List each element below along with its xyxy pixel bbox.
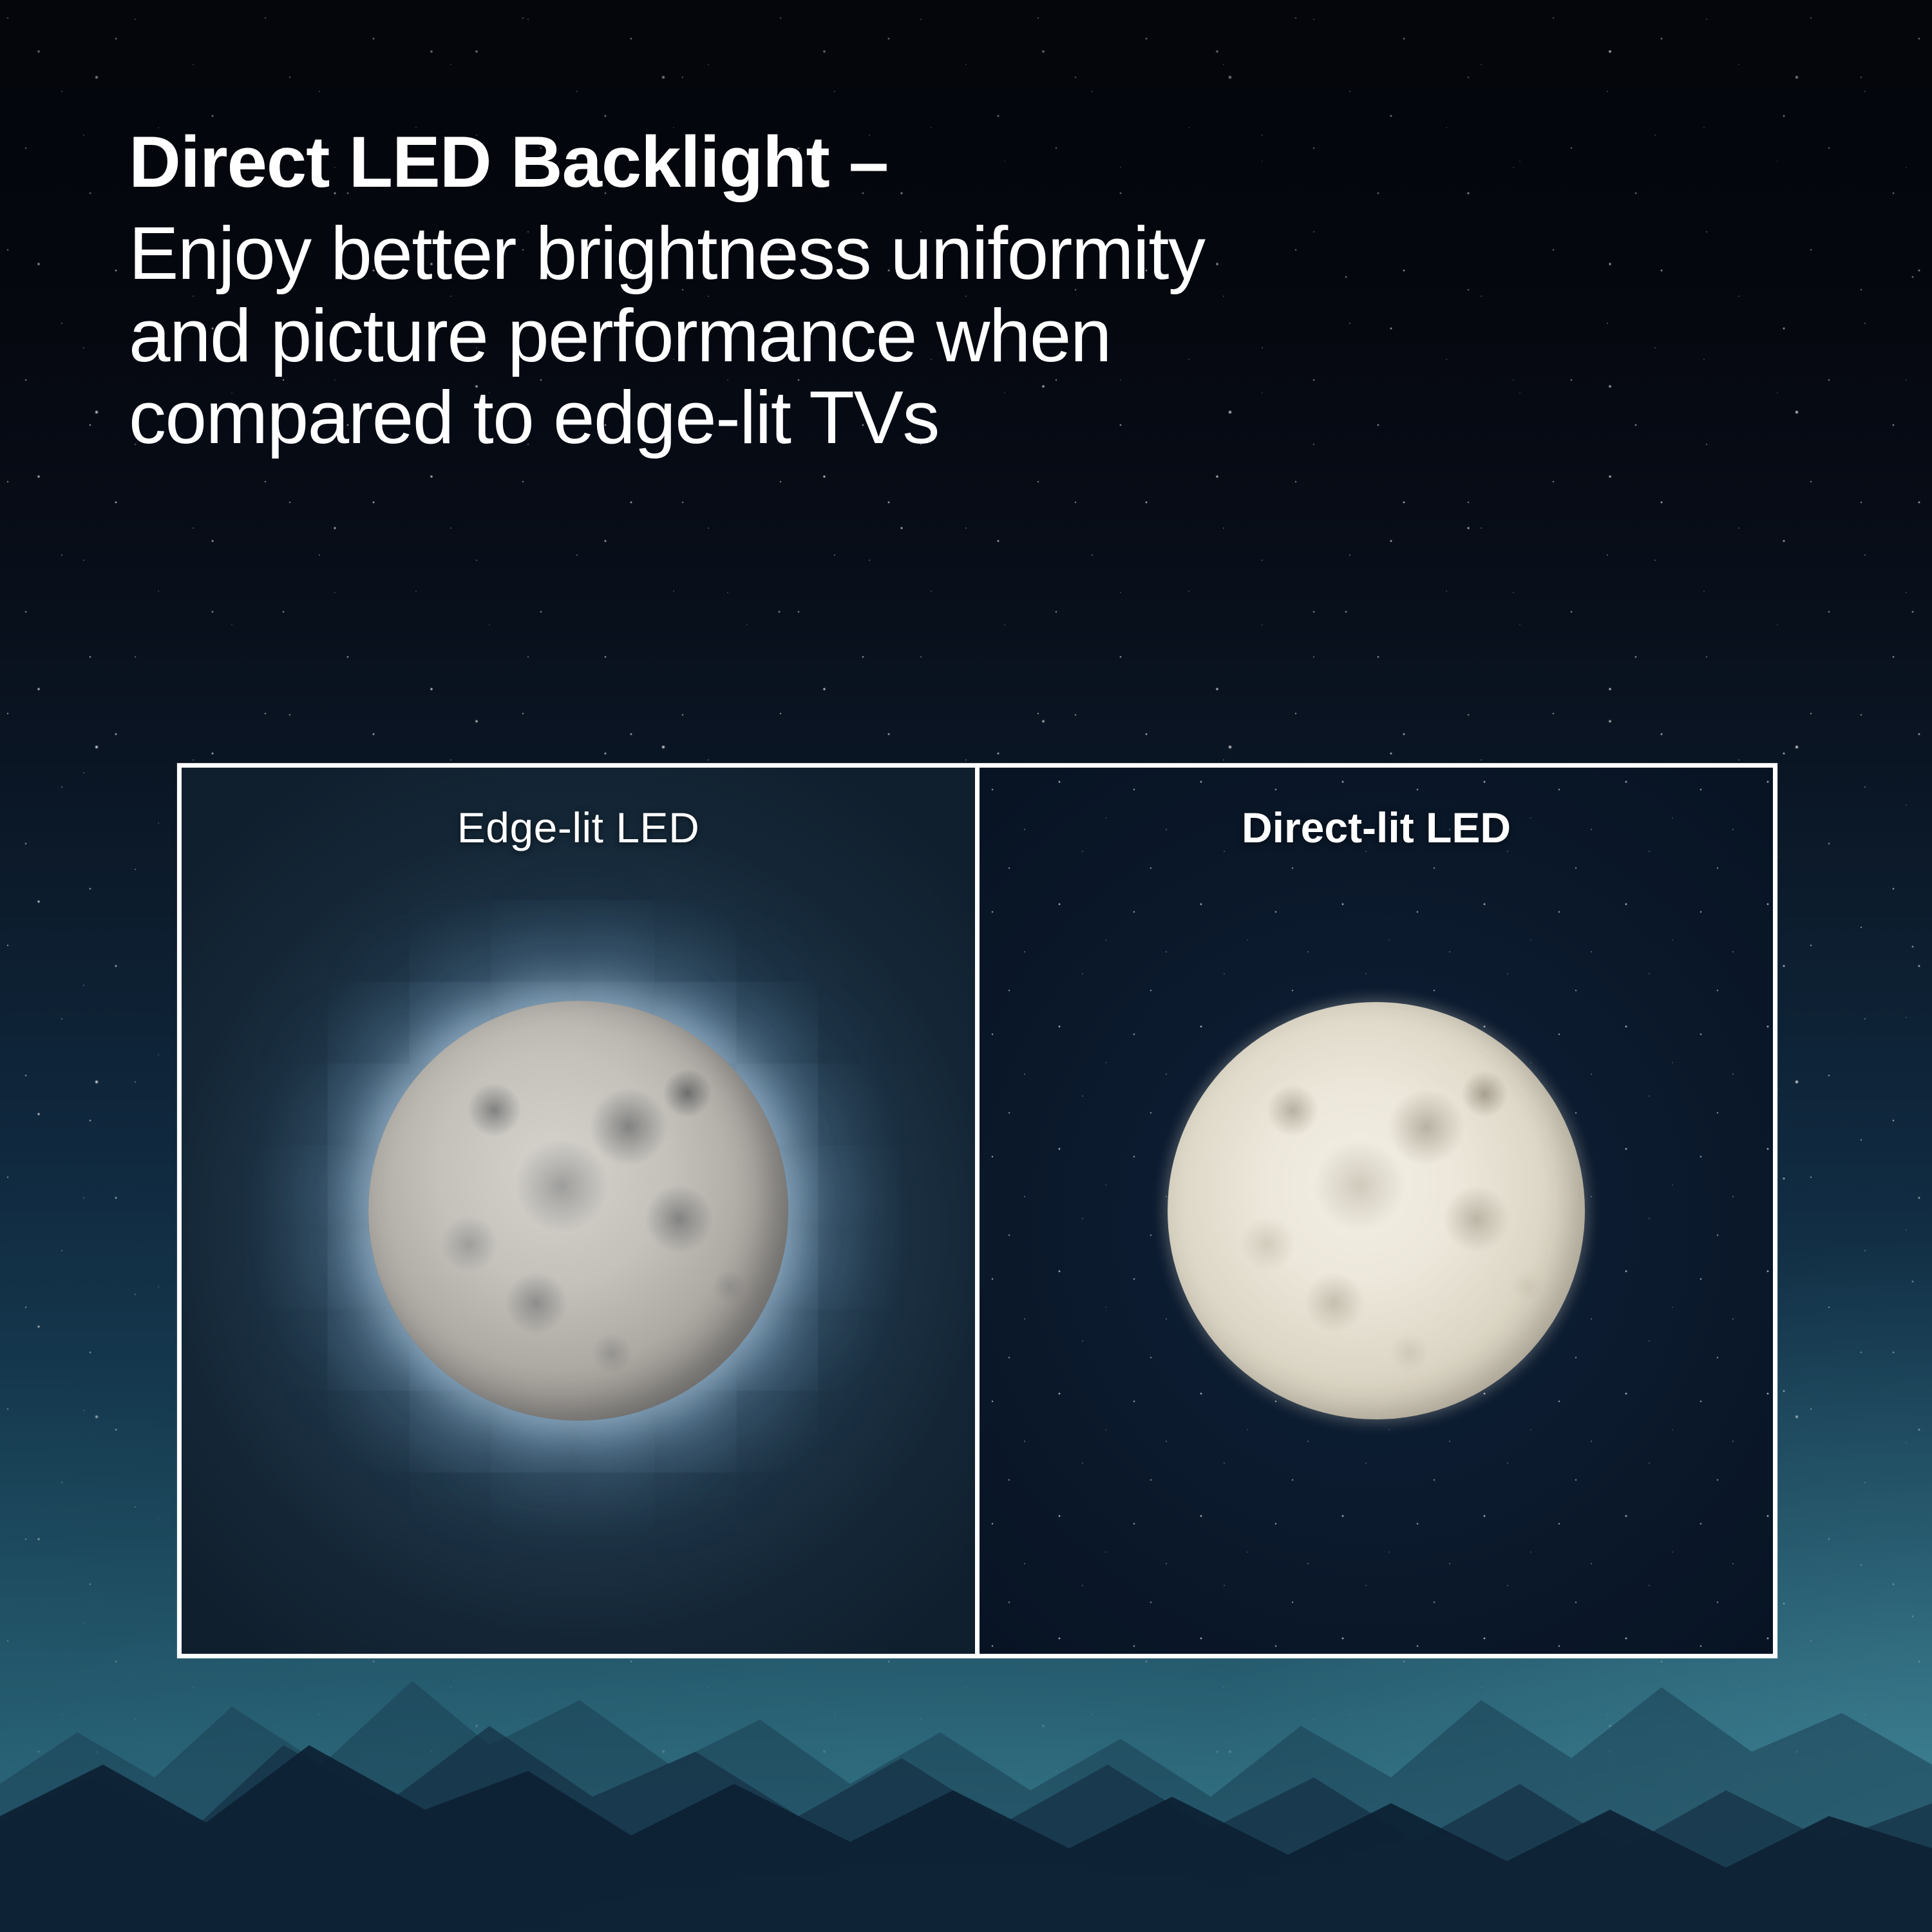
subtitle-line-3: compared to edge-lit TVs xyxy=(129,377,1829,459)
moon-icon-edge-lit xyxy=(368,1001,788,1421)
comparison-panel-direct-lit: Direct-lit LED xyxy=(980,768,1773,1654)
moon-container-edge-lit xyxy=(368,1001,788,1421)
panel-label-edge-lit: Edge-lit LED xyxy=(182,806,975,849)
moon-icon-direct-lit xyxy=(1168,1002,1585,1419)
page-title: Direct LED Backlight – xyxy=(129,126,1829,198)
page-subtitle: Enjoy better brightness uniformity and p… xyxy=(129,213,1829,459)
comparison-frame: Edge-lit LED Direct-lit LED xyxy=(177,763,1777,1658)
subtitle-line-1: Enjoy better brightness uniformity xyxy=(129,213,1829,295)
panel-divider xyxy=(975,768,980,1654)
comparison-panel-edge-lit: Edge-lit LED xyxy=(182,768,975,1654)
headline-block: Direct LED Backlight – Enjoy better brig… xyxy=(129,126,1829,459)
mountain-silhouette-front xyxy=(0,1687,1932,1932)
moon-container-direct-lit xyxy=(1168,1002,1585,1419)
promo-banner: Direct LED Backlight – Enjoy better brig… xyxy=(0,0,1932,1932)
subtitle-line-2: and picture performance when xyxy=(129,295,1829,377)
panel-label-direct-lit: Direct-lit LED xyxy=(980,806,1773,849)
